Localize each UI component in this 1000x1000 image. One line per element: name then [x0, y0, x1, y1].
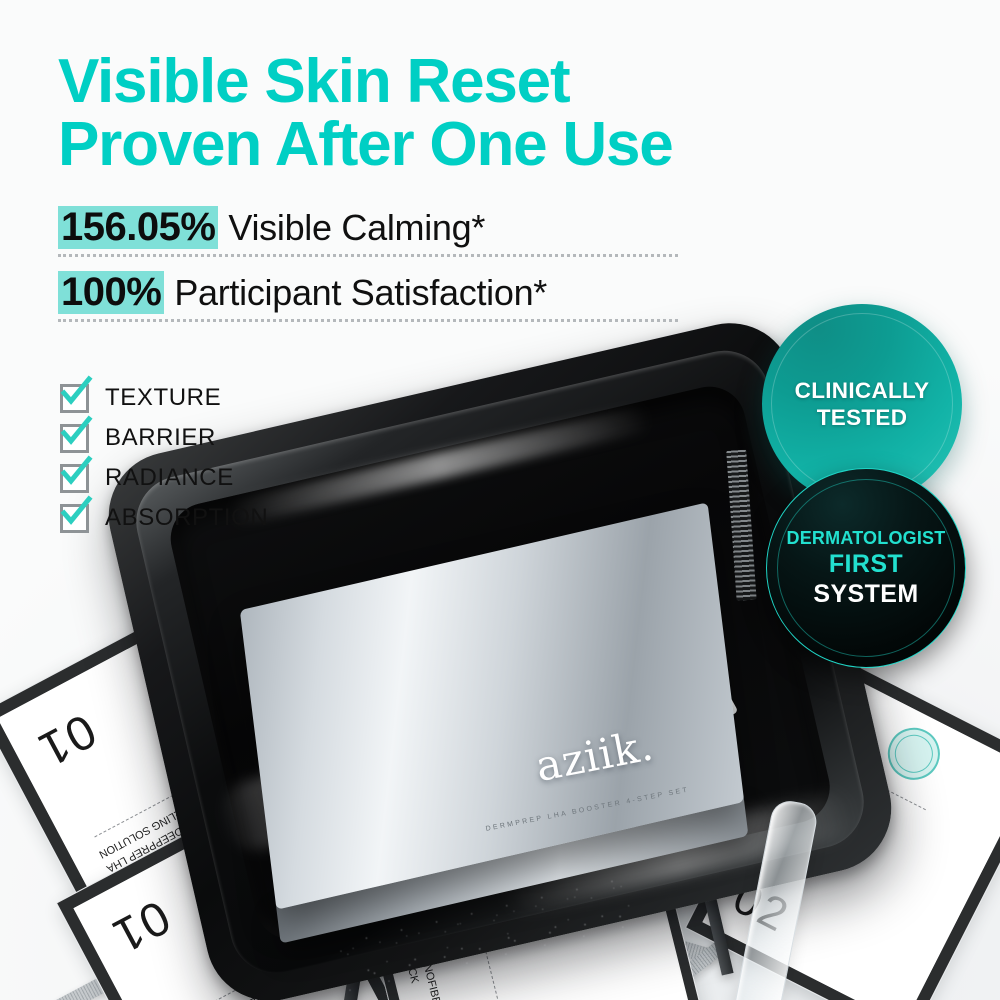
benefit-checklist: TEXTURE BARRIER RADIANCE ABSORPTION [60, 378, 268, 538]
stat-row: 100% Participant Satisfaction* [58, 271, 678, 319]
check-label: ABSORPTION [105, 504, 268, 532]
badge-line-3: SYSTEM [813, 580, 918, 609]
checkbox-checked-icon [60, 424, 89, 453]
check-label: RADIANCE [105, 464, 234, 492]
badge-line-1: CLINICALLY [795, 377, 930, 404]
promo-stage: 01 STEP 1 DEEPPREP LHA PEELING SOLUTION … [0, 0, 1000, 1000]
headline-line-1: Visible Skin Reset [58, 47, 569, 116]
stat-label: Participant Satisfaction* [174, 272, 547, 314]
sachet-number: 01 [28, 702, 104, 778]
checkbox-checked-icon [60, 384, 89, 413]
sachet-number: 01 [102, 889, 178, 965]
check-item: TEXTURE [60, 378, 268, 418]
badge-line-2: TESTED [817, 404, 908, 431]
check-item: BARRIER [60, 418, 268, 458]
stat-divider [58, 254, 678, 257]
badge-line-2: FIRST [829, 550, 903, 579]
page-title: Visible Skin Reset Proven After One Use [58, 50, 818, 176]
check-item: ABSORPTION [60, 498, 268, 538]
stat-value: 100% [58, 271, 164, 314]
check-label: BARRIER [105, 424, 216, 452]
certification-seal-icon [879, 719, 949, 789]
stats-list: 156.05% Visible Calming* 100% Participan… [58, 206, 678, 336]
box-brand-logo: aziik. [532, 720, 658, 791]
stat-label: Visible Calming* [228, 207, 485, 249]
checkbox-checked-icon [60, 504, 89, 533]
badge-dermatologist-first-system: DERMATOLOGIST FIRST SYSTEM [766, 468, 966, 668]
stat-divider [58, 319, 678, 322]
stat-row: 156.05% Visible Calming* [58, 206, 678, 254]
headline-line-2: Proven After One Use [58, 113, 818, 176]
badge-line-1: DERMATOLOGIST [787, 528, 946, 549]
checkbox-checked-icon [60, 464, 89, 493]
stat-value: 156.05% [58, 206, 218, 249]
check-label: TEXTURE [105, 384, 221, 412]
check-item: RADIANCE [60, 458, 268, 498]
